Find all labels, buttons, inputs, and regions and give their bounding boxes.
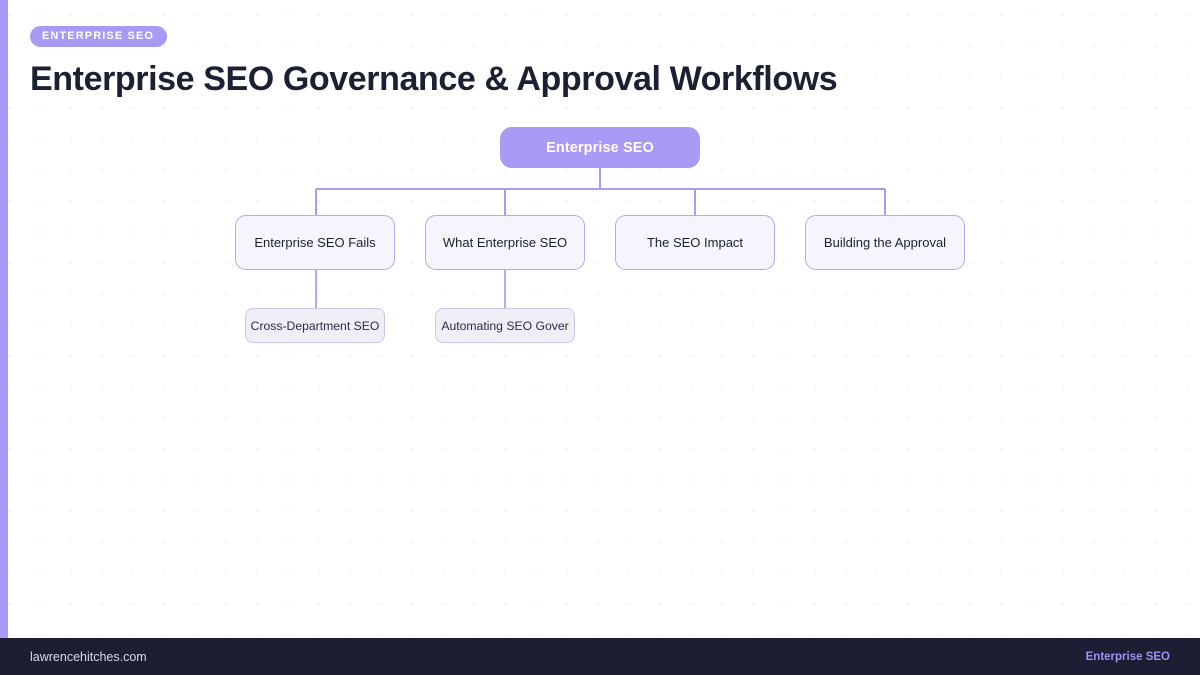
tree-node-root[interactable]: Enterprise SEO <box>500 127 700 168</box>
tree-node-child-3[interactable]: The SEO Impact <box>615 215 775 270</box>
tree-node-child-2[interactable]: What Enterprise SEO <box>425 215 585 270</box>
tree-node-child-3-label: The SEO Impact <box>647 235 743 250</box>
tree-node-child-4[interactable]: Building the Approval <box>805 215 965 270</box>
footer-site-name: lawrencehitches.com <box>30 650 147 664</box>
footer-topic-label: Enterprise SEO <box>1086 651 1170 663</box>
tree-node-child-2-label: What Enterprise SEO <box>443 235 567 250</box>
slide-canvas: ENTERPRISE SEO Enterprise SEO Governance… <box>0 0 1200 675</box>
org-tree-diagram: Enterprise SEO Enterprise SEO Fails What… <box>0 0 1200 638</box>
footer-bar: lawrencehitches.com Enterprise SEO <box>0 638 1200 675</box>
tree-node-leaf-1[interactable]: Cross-Department SEO <box>245 308 385 343</box>
connector-lines <box>0 0 1200 638</box>
tree-node-leaf-2[interactable]: Automating SEO Gover <box>435 308 575 343</box>
tree-node-child-1[interactable]: Enterprise SEO Fails <box>235 215 395 270</box>
tree-node-child-4-label: Building the Approval <box>824 235 946 250</box>
tree-node-leaf-1-label: Cross-Department SEO <box>251 319 380 333</box>
tree-node-leaf-2-label: Automating SEO Gover <box>441 319 568 333</box>
tree-node-root-label: Enterprise SEO <box>546 140 654 156</box>
tree-node-child-1-label: Enterprise SEO Fails <box>254 235 375 250</box>
